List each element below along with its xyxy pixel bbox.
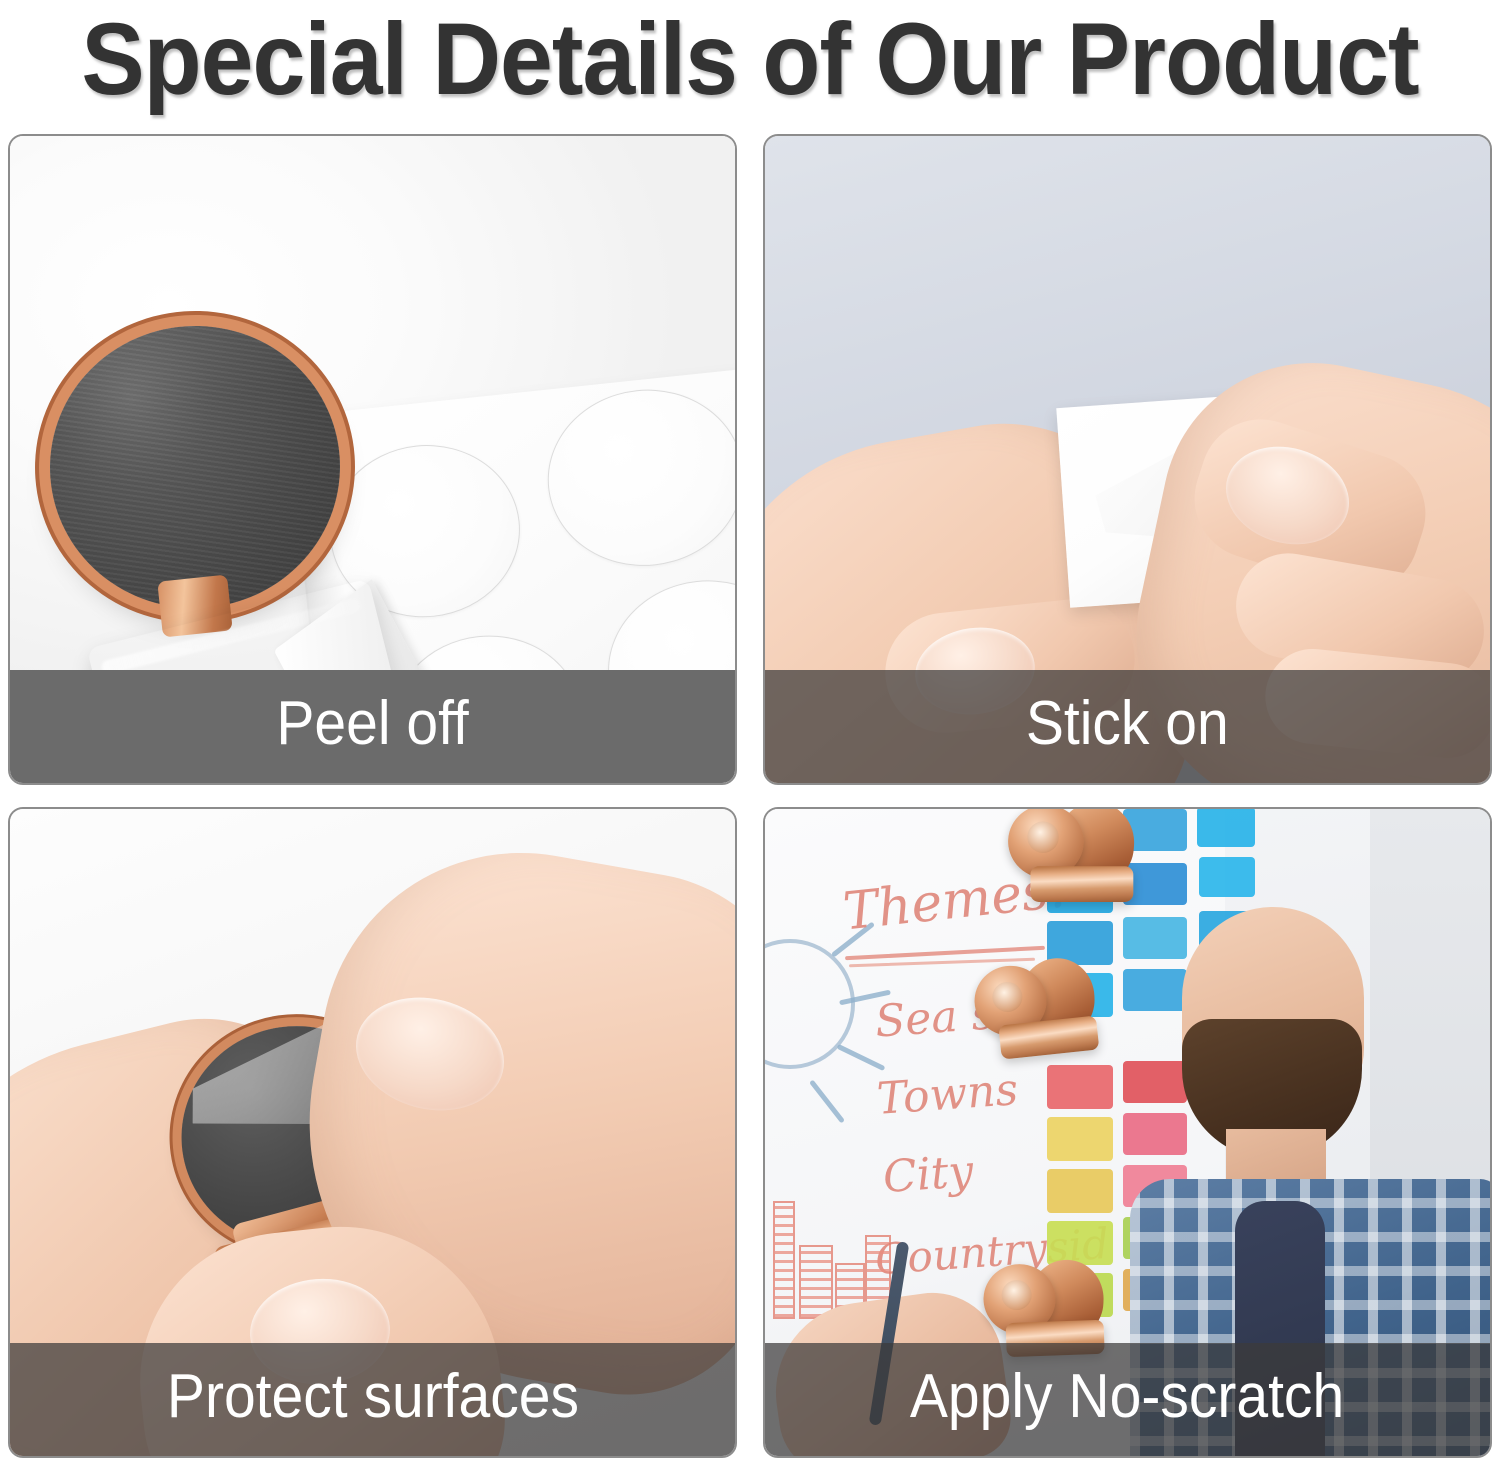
whiteboard-line: City [881, 1146, 975, 1203]
rose-gold-clip [1003, 809, 1137, 920]
panel-stick-on: Stick on [763, 134, 1492, 785]
rose-gold-clip [973, 957, 1097, 1071]
page-title: Special Details of Our Product [81, 8, 1418, 110]
caption-band-protect-surfaces: Protect surfaces [10, 1343, 735, 1456]
building [773, 1201, 795, 1319]
caption-band-peel-off: Peel off [10, 670, 735, 783]
adhesive-dot [539, 380, 735, 576]
caption-band-apply-no-scratch: Apply No-scratch [765, 1343, 1490, 1456]
infographic-page: Special Details of Our Product [0, 0, 1500, 1466]
caption-label: Apply No-scratch [910, 1366, 1344, 1433]
panel-apply-no-scratch: Themes. Sea sid Towns City Countrysid [763, 807, 1492, 1458]
sun-ray [809, 1079, 845, 1123]
sticky-note [1047, 1169, 1113, 1213]
sticky-note [1047, 1117, 1113, 1161]
panel-peel-off: Peel off [8, 134, 737, 785]
caption-label: Peel off [276, 693, 468, 760]
sticky-note [1047, 1221, 1113, 1265]
building [799, 1245, 833, 1319]
magnet-disc [41, 316, 350, 618]
whiteboard-line: Towns [875, 1064, 1019, 1125]
panel-grid: Peel off Stick on [8, 134, 1492, 1458]
page-header: Special Details of Our Product [0, 0, 1500, 118]
sun-ray [837, 1044, 886, 1071]
clip-bar [1030, 866, 1133, 902]
caption-band-stick-on: Stick on [765, 670, 1490, 783]
sticky-note [1047, 1065, 1113, 1109]
caption-label: Stick on [1026, 693, 1229, 760]
panel-protect-surfaces: Protect surfaces [8, 807, 737, 1458]
caption-label: Protect surfaces [166, 1366, 578, 1433]
